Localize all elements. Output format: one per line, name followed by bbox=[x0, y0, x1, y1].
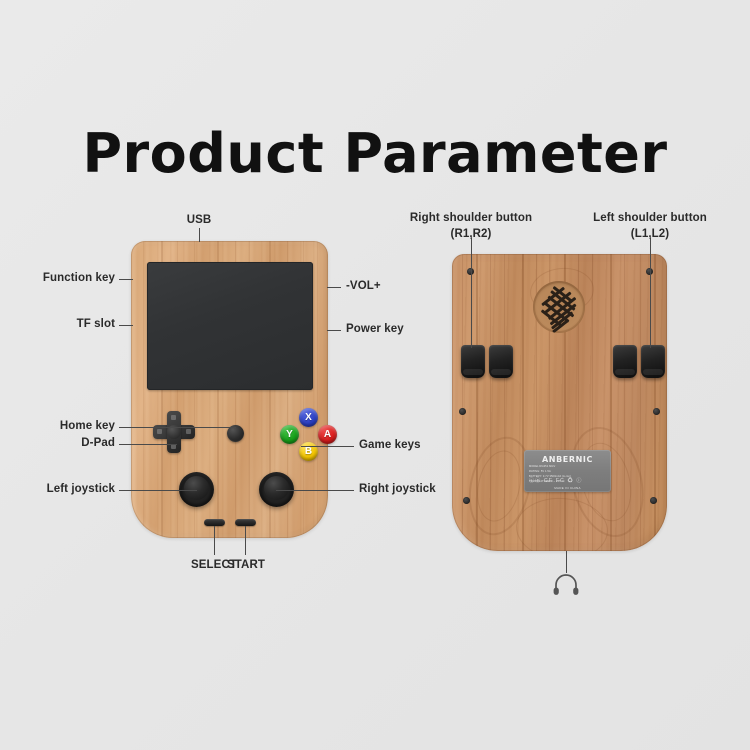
game-key-x[interactable]: X bbox=[299, 408, 318, 427]
game-key-a[interactable]: A bbox=[318, 425, 337, 444]
label-function-key: Function key bbox=[8, 272, 115, 284]
leader-tf-slot bbox=[119, 325, 133, 326]
d-pad-up-pip bbox=[171, 415, 176, 420]
regulatory-sticker: ANBERNIC MODEL:RG351 MGV RATING: 5V 1.5A… bbox=[524, 450, 611, 492]
leader-power-key bbox=[327, 330, 341, 331]
label-volume: -VOL+ bbox=[346, 280, 381, 292]
label-dpad: D-Pad bbox=[8, 437, 115, 449]
page-title: Product Parameter bbox=[0, 122, 750, 185]
leader-left-joystick bbox=[119, 490, 197, 491]
shoulder-button-l2[interactable] bbox=[641, 345, 665, 378]
screw-mid-right bbox=[653, 408, 660, 415]
device-screen bbox=[147, 262, 313, 390]
game-key-b[interactable]: B bbox=[299, 442, 318, 461]
label-right-shoulder-button: Right shoulder button bbox=[406, 212, 536, 224]
game-keys-cluster[interactable]: X Y A B bbox=[280, 408, 338, 464]
leader-function-key bbox=[119, 279, 133, 280]
d-pad-left-pip bbox=[157, 429, 162, 434]
leader-left-shoulder bbox=[650, 238, 651, 348]
label-left-shoulder-button-codes: (L1,L2) bbox=[585, 228, 715, 240]
shoulder-button-r1[interactable] bbox=[489, 345, 513, 378]
product-parameter-diagram: Product Parameter X Y A B bbox=[0, 0, 750, 750]
leader-select bbox=[214, 526, 215, 555]
screw-bottom-right bbox=[650, 497, 657, 504]
label-left-joystick: Left joystick bbox=[8, 483, 115, 495]
leader-dpad bbox=[119, 444, 177, 445]
d-pad-right-pip bbox=[186, 429, 191, 434]
select-button[interactable] bbox=[204, 519, 225, 526]
label-right-shoulder-button-codes: (R1,R2) bbox=[406, 228, 536, 240]
sticker-model: MODEL:RG351 MGV bbox=[529, 465, 555, 468]
speaker-grille bbox=[533, 281, 585, 333]
label-home-key: Home key bbox=[8, 420, 115, 432]
start-button[interactable] bbox=[235, 519, 256, 526]
game-key-y[interactable]: Y bbox=[280, 425, 299, 444]
headphone-icon bbox=[552, 572, 580, 596]
leader-start bbox=[245, 526, 246, 555]
sticker-certification-icons: ⓒⓔ CE FC ♻ ⓘ bbox=[529, 477, 583, 484]
label-start: START bbox=[216, 559, 276, 571]
label-game-keys: Game keys bbox=[359, 439, 421, 451]
label-power-key: Power key bbox=[346, 323, 404, 335]
leader-right-shoulder bbox=[471, 238, 472, 348]
screw-mid-left bbox=[459, 408, 466, 415]
label-usb: USB bbox=[174, 214, 224, 226]
sticker-made-in: MADE IN CHINA bbox=[524, 486, 611, 490]
label-tf-slot: TF slot bbox=[8, 318, 115, 330]
label-right-joystick: Right joystick bbox=[359, 483, 436, 495]
sticker-brand: ANBERNIC bbox=[524, 455, 611, 464]
d-pad[interactable] bbox=[153, 411, 195, 453]
screw-bottom-left bbox=[463, 497, 470, 504]
leader-game-keys bbox=[301, 446, 354, 447]
leader-right-joystick bbox=[276, 490, 354, 491]
leader-home-key bbox=[119, 427, 236, 428]
sticker-rating: RATING: 5V 1.5A bbox=[529, 470, 551, 473]
leader-headphone-jack bbox=[566, 551, 567, 573]
leader-usb bbox=[199, 228, 200, 242]
shoulder-button-r2[interactable] bbox=[461, 345, 485, 378]
shoulder-button-l1[interactable] bbox=[613, 345, 637, 378]
label-left-shoulder-button: Left shoulder button bbox=[585, 212, 715, 224]
leader-volume bbox=[327, 287, 341, 288]
